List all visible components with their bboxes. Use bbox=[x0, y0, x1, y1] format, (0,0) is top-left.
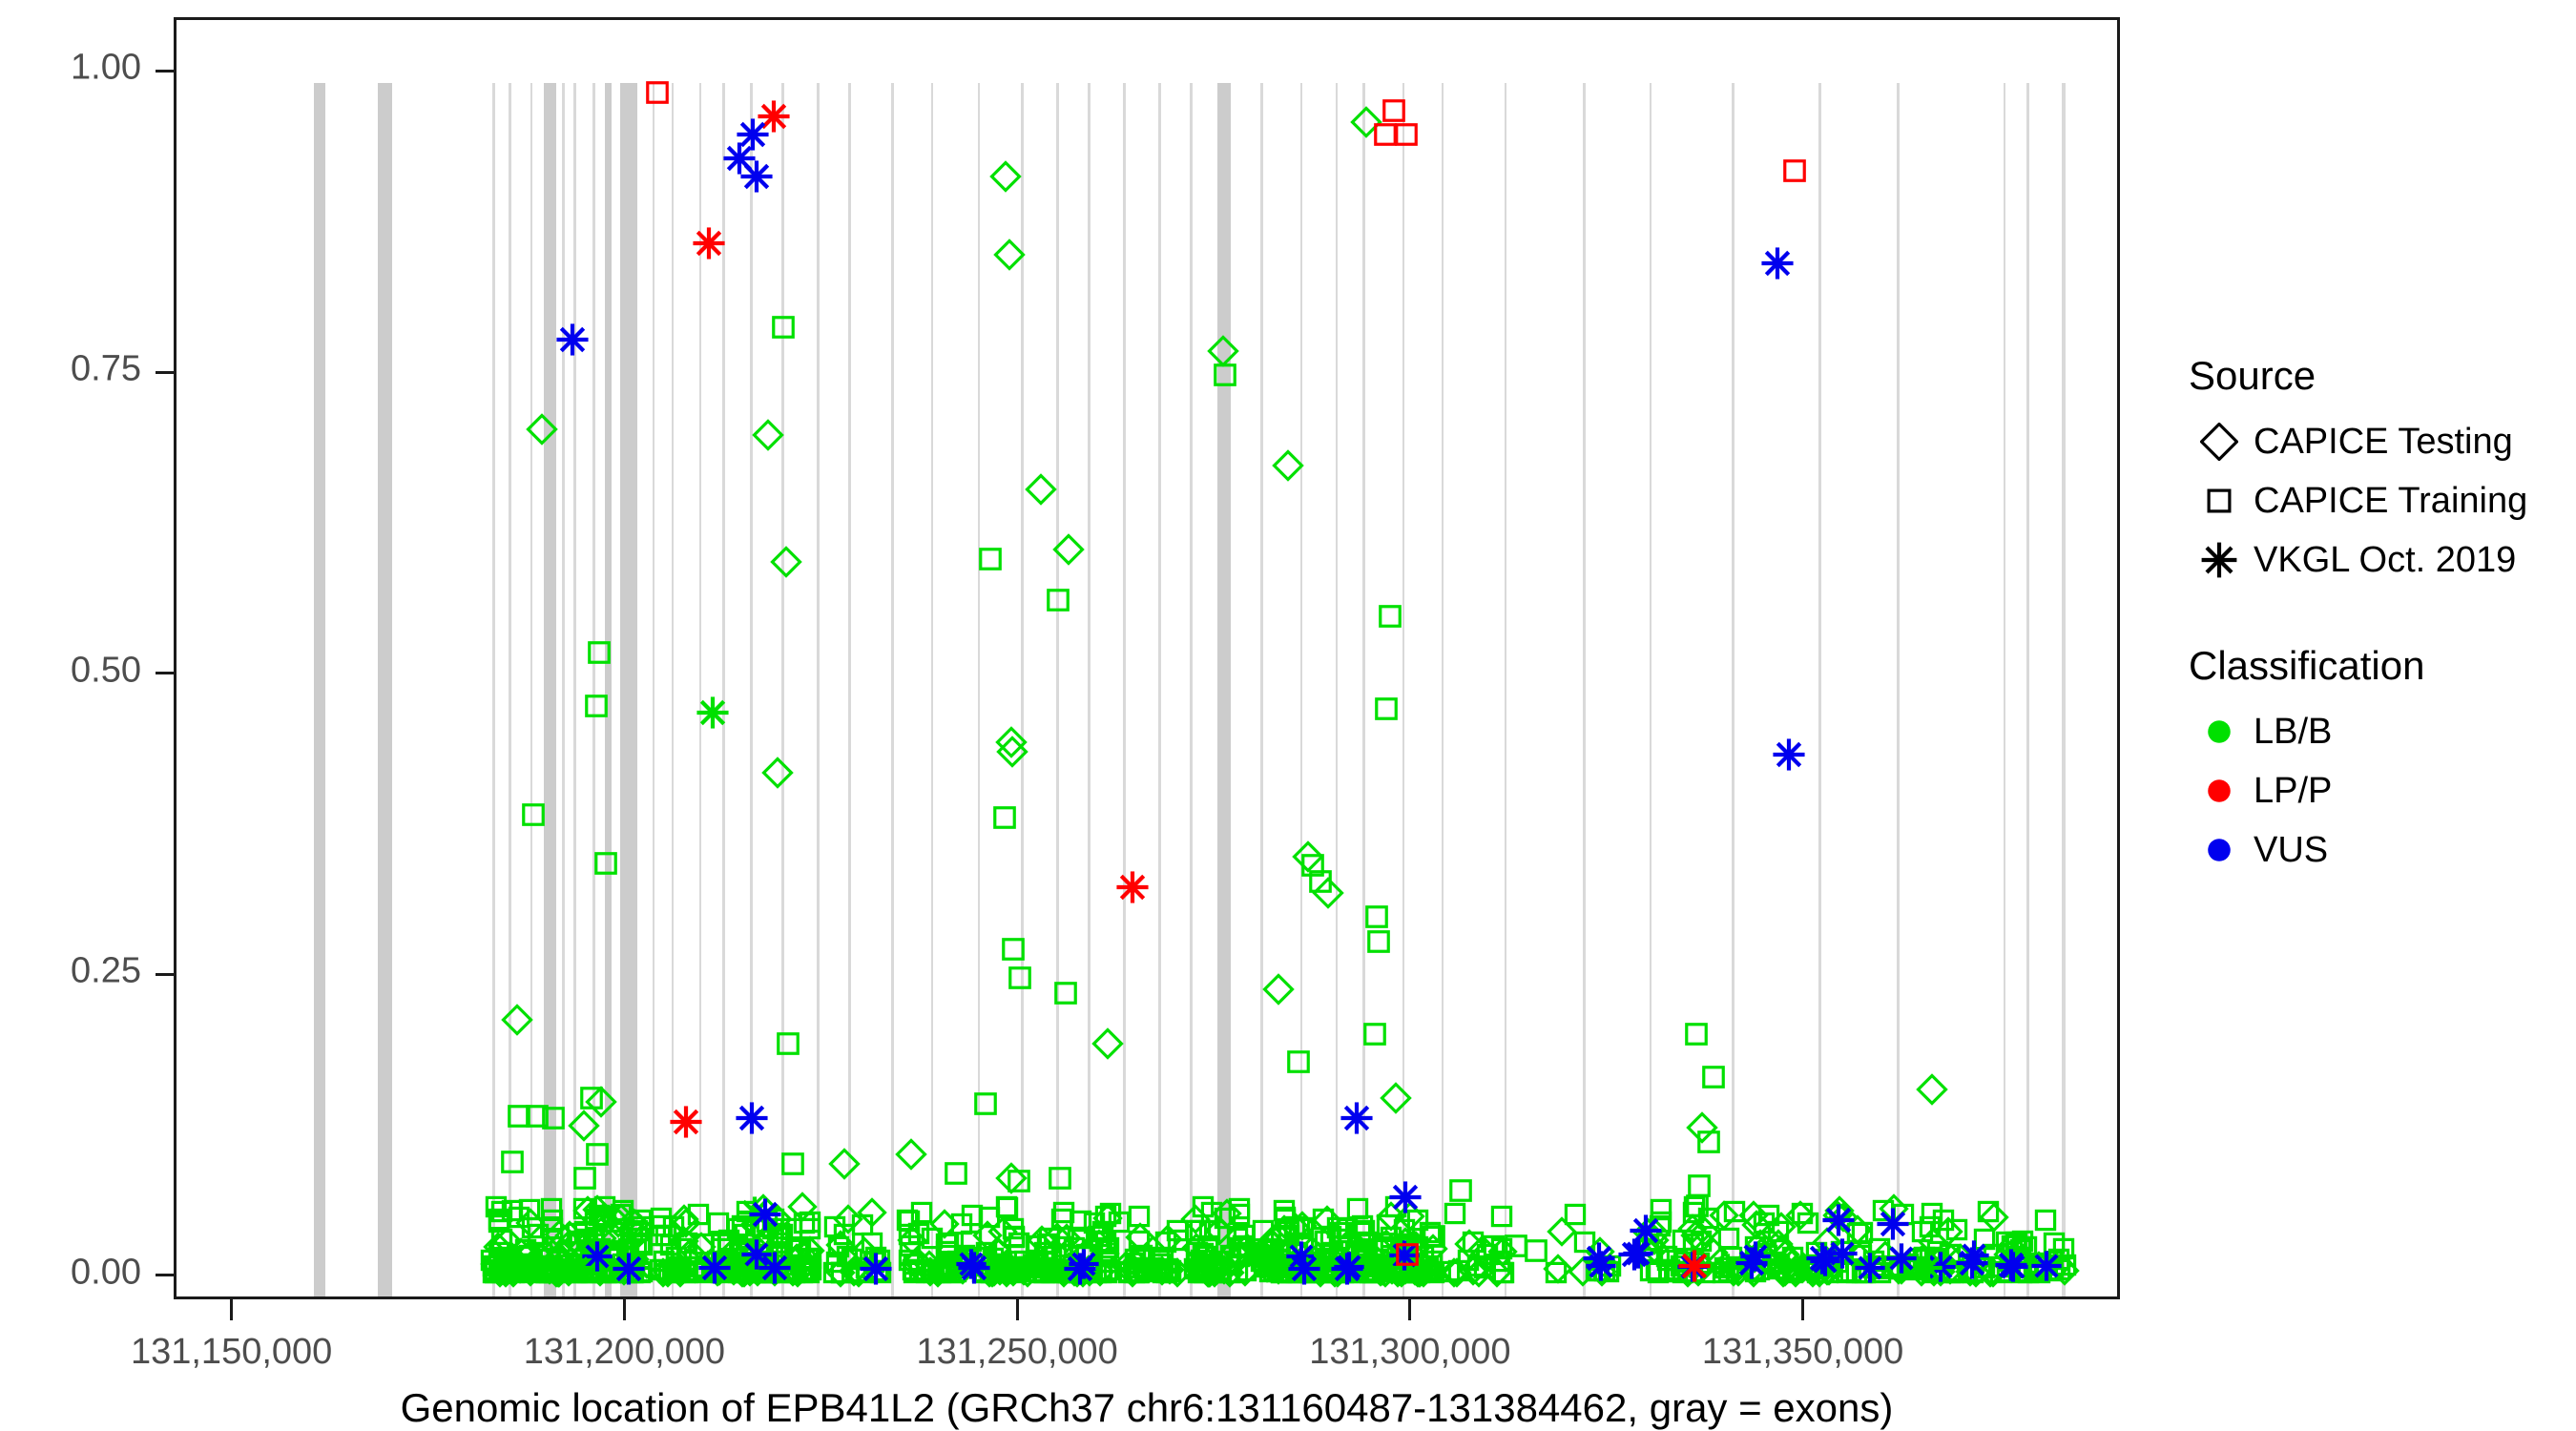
data-point bbox=[1254, 1252, 1282, 1280]
data-point bbox=[771, 1255, 800, 1284]
data-point bbox=[1283, 1047, 1314, 1077]
y-axis-tick bbox=[156, 1274, 177, 1276]
data-point bbox=[743, 1256, 772, 1285]
data-point bbox=[1802, 1238, 1831, 1267]
data-point bbox=[1416, 1218, 1444, 1247]
data-point bbox=[1473, 1240, 1502, 1269]
data-point bbox=[1391, 1255, 1420, 1284]
data-point bbox=[1699, 1238, 1728, 1267]
data-point bbox=[1786, 1201, 1815, 1230]
data-point bbox=[920, 1258, 948, 1287]
exon-band bbox=[817, 83, 819, 1296]
legend-item-source-0[interactable]: CAPICE Testing bbox=[2185, 412, 2566, 471]
data-point bbox=[1050, 978, 1081, 1008]
exon-band bbox=[1123, 83, 1125, 1296]
data-point bbox=[992, 1258, 1021, 1287]
data-point bbox=[899, 1255, 927, 1284]
data-point bbox=[958, 1201, 987, 1230]
data-point bbox=[1640, 1226, 1669, 1255]
data-point bbox=[502, 1005, 532, 1035]
data-point bbox=[1678, 1257, 1707, 1286]
data-point bbox=[1440, 1258, 1468, 1287]
data-point bbox=[724, 1258, 753, 1287]
legend-item-label: LP/P bbox=[2254, 771, 2332, 812]
chart-root: CAPICE score (pathogenicity estimate) Ge… bbox=[0, 0, 2576, 1431]
data-point bbox=[1265, 1223, 1294, 1252]
data-point bbox=[748, 1197, 782, 1232]
data-point bbox=[1419, 1221, 1449, 1252]
data-point bbox=[896, 1139, 926, 1170]
data-point bbox=[1735, 1246, 1769, 1280]
data-point bbox=[1270, 1215, 1298, 1244]
data-point bbox=[1867, 1254, 1896, 1282]
data-point bbox=[1351, 107, 1381, 137]
data-point bbox=[1955, 1246, 1989, 1280]
data-point bbox=[1091, 1228, 1120, 1256]
data-point bbox=[772, 1256, 800, 1285]
data-point bbox=[501, 1248, 530, 1276]
data-point bbox=[981, 1258, 1009, 1287]
data-point bbox=[1909, 1244, 1938, 1273]
data-point bbox=[995, 1254, 1024, 1282]
data-point bbox=[863, 1256, 892, 1285]
data-point bbox=[1364, 1245, 1393, 1274]
legend-title-source: Source bbox=[2189, 353, 2566, 399]
data-point bbox=[1843, 1219, 1872, 1248]
data-point bbox=[1684, 1255, 1713, 1284]
data-point bbox=[765, 1229, 794, 1257]
data-point bbox=[1280, 1213, 1309, 1241]
data-point bbox=[1092, 1258, 1121, 1287]
asterisk-icon bbox=[2185, 530, 2254, 590]
data-point bbox=[1391, 1228, 1420, 1256]
data-point bbox=[588, 1258, 616, 1287]
data-point bbox=[717, 1255, 745, 1284]
data-point bbox=[714, 1228, 742, 1256]
data-point bbox=[1590, 1256, 1619, 1285]
data-point bbox=[782, 1244, 811, 1273]
data-point bbox=[941, 1158, 971, 1189]
legend-item-source-2[interactable]: VKGL Oct. 2019 bbox=[2185, 530, 2566, 590]
data-point bbox=[945, 1249, 974, 1277]
y-axis-tick bbox=[156, 70, 177, 73]
data-point bbox=[715, 1226, 743, 1255]
data-point bbox=[1405, 1258, 1434, 1287]
data-point bbox=[749, 1258, 778, 1287]
data-point bbox=[1765, 1250, 1794, 1278]
data-point bbox=[503, 1253, 533, 1283]
data-point bbox=[513, 1242, 542, 1271]
data-point bbox=[1869, 1196, 1898, 1225]
x-axis-tick bbox=[230, 1299, 233, 1320]
data-point bbox=[1825, 1196, 1854, 1225]
x-axis-tick bbox=[1408, 1299, 1411, 1320]
data-point bbox=[1282, 1258, 1311, 1287]
data-point bbox=[737, 1195, 772, 1230]
data-point bbox=[1263, 1257, 1292, 1286]
data-point bbox=[1029, 1258, 1058, 1287]
data-point bbox=[1091, 1202, 1120, 1231]
x-axis-tick-label: 131,300,000 bbox=[1309, 1332, 1510, 1373]
data-point bbox=[1345, 1235, 1374, 1264]
data-point bbox=[1125, 1202, 1153, 1231]
data-point bbox=[730, 1258, 758, 1287]
data-point bbox=[665, 1255, 694, 1283]
data-point bbox=[944, 1247, 972, 1275]
data-point bbox=[1352, 1257, 1381, 1286]
data-point bbox=[576, 1239, 605, 1268]
data-point bbox=[492, 1253, 521, 1281]
data-point bbox=[741, 1255, 770, 1283]
data-point bbox=[1054, 1253, 1083, 1281]
data-point bbox=[790, 1209, 819, 1237]
data-point bbox=[1266, 1239, 1295, 1268]
data-point bbox=[1004, 1166, 1034, 1196]
exon-band bbox=[492, 83, 494, 1296]
data-point bbox=[1082, 1258, 1111, 1287]
data-point bbox=[1741, 1257, 1770, 1286]
data-point bbox=[2031, 1206, 2060, 1234]
exon-band bbox=[781, 83, 783, 1296]
data-point bbox=[833, 1242, 862, 1271]
data-point bbox=[1916, 1213, 1944, 1241]
data-point bbox=[703, 1257, 732, 1286]
legend-item-classification-0[interactable]: LB/B bbox=[2185, 702, 2566, 761]
data-point bbox=[1340, 1101, 1374, 1135]
data-point bbox=[2007, 1258, 2036, 1287]
data-point bbox=[1859, 1254, 1888, 1282]
data-point bbox=[1465, 1258, 1493, 1287]
data-point bbox=[1706, 1248, 1735, 1276]
data-point bbox=[1586, 1237, 1614, 1266]
data-point bbox=[1910, 1243, 1939, 1272]
data-point bbox=[1805, 1241, 1839, 1275]
data-point bbox=[1745, 1255, 1774, 1284]
data-point bbox=[1294, 1256, 1322, 1285]
data-point bbox=[1125, 1227, 1153, 1255]
data-point bbox=[492, 1243, 521, 1272]
data-point bbox=[1189, 1192, 1217, 1221]
legend-item-source-1[interactable]: CAPICE Training bbox=[2185, 471, 2566, 530]
data-point bbox=[1182, 1234, 1211, 1262]
exon-band bbox=[530, 83, 532, 1296]
data-point bbox=[662, 1243, 691, 1272]
data-point bbox=[1866, 1258, 1895, 1287]
data-point bbox=[1078, 1255, 1107, 1284]
exon-band bbox=[978, 83, 980, 1296]
legend-item-label: LB/B bbox=[2254, 712, 2332, 753]
data-point bbox=[1396, 1202, 1424, 1231]
data-point bbox=[1358, 1256, 1386, 1285]
data-point bbox=[1444, 1256, 1473, 1285]
data-point bbox=[1037, 1247, 1066, 1275]
data-point bbox=[1270, 1253, 1298, 1281]
data-point bbox=[771, 547, 801, 577]
data-point bbox=[481, 1258, 509, 1287]
data-point bbox=[1917, 1074, 1947, 1105]
data-point bbox=[1271, 1203, 1299, 1232]
data-point bbox=[977, 1253, 1006, 1281]
data-point bbox=[1908, 1217, 1937, 1246]
plot-area bbox=[177, 20, 2117, 1296]
data-point bbox=[1080, 1209, 1109, 1237]
data-point bbox=[1267, 1258, 1296, 1287]
exon-band bbox=[891, 83, 893, 1296]
data-point bbox=[826, 1258, 855, 1287]
data-point bbox=[1346, 1218, 1375, 1247]
data-point bbox=[1025, 1250, 1053, 1278]
data-point bbox=[1087, 1258, 1115, 1287]
data-point bbox=[1069, 1258, 1097, 1287]
data-point bbox=[1383, 1255, 1412, 1283]
data-point bbox=[895, 1207, 924, 1235]
x-axis-tick-label: 131,150,000 bbox=[131, 1332, 332, 1373]
data-point bbox=[2020, 1256, 2048, 1285]
data-point bbox=[978, 1258, 1007, 1287]
data-point bbox=[765, 1219, 794, 1248]
data-point bbox=[1913, 1253, 1943, 1283]
data-point bbox=[477, 1246, 506, 1275]
data-point bbox=[753, 1258, 781, 1287]
exon-band bbox=[1190, 83, 1192, 1296]
data-point bbox=[1764, 1230, 1793, 1258]
data-point bbox=[2030, 1251, 2059, 1279]
data-point bbox=[1993, 1257, 2022, 1286]
data-point bbox=[1371, 694, 1402, 724]
data-point bbox=[1181, 1205, 1210, 1234]
data-point bbox=[1049, 1198, 1078, 1227]
legend-item-label: VUS bbox=[2254, 830, 2328, 871]
data-point bbox=[1124, 1258, 1153, 1287]
data-point bbox=[741, 1258, 770, 1287]
data-point bbox=[1318, 1258, 1346, 1287]
exon-band bbox=[1402, 83, 1404, 1296]
data-point bbox=[852, 1254, 881, 1282]
data-point bbox=[753, 1208, 781, 1236]
data-point bbox=[742, 1234, 771, 1263]
data-point bbox=[755, 1258, 783, 1287]
data-point bbox=[2025, 1249, 2053, 1277]
data-point bbox=[1284, 1258, 1313, 1287]
exon-band bbox=[378, 83, 392, 1296]
data-point bbox=[1071, 1239, 1100, 1268]
data-point bbox=[1741, 1233, 1770, 1261]
data-point bbox=[1994, 1240, 2023, 1269]
data-point bbox=[1271, 1205, 1299, 1234]
data-point bbox=[1381, 1256, 1410, 1285]
data-point bbox=[1035, 1224, 1064, 1253]
data-point bbox=[780, 1258, 809, 1287]
data-point bbox=[1854, 1252, 1886, 1284]
data-point bbox=[1267, 1258, 1296, 1287]
data-point bbox=[679, 1253, 708, 1281]
data-point bbox=[574, 1250, 603, 1278]
data-point bbox=[1582, 1241, 1616, 1275]
data-point bbox=[741, 1210, 770, 1238]
data-point bbox=[853, 1258, 882, 1287]
data-point bbox=[1846, 1236, 1875, 1265]
data-point bbox=[925, 1257, 954, 1286]
data-point bbox=[1402, 1233, 1431, 1261]
data-point bbox=[1859, 1247, 1888, 1275]
data-point bbox=[1388, 1239, 1421, 1272]
data-point bbox=[1823, 1248, 1852, 1276]
data-point bbox=[993, 1254, 1022, 1282]
data-point bbox=[706, 1248, 735, 1276]
legend-item-classification-2[interactable]: VUS bbox=[2185, 820, 2566, 880]
data-point bbox=[1131, 1255, 1159, 1284]
data-point bbox=[743, 1257, 772, 1286]
data-point bbox=[1346, 1253, 1375, 1281]
legend-item-label: CAPICE Testing bbox=[2254, 422, 2513, 463]
data-point bbox=[934, 1229, 963, 1257]
data-point bbox=[1829, 1203, 1858, 1232]
data-point bbox=[1976, 1258, 2005, 1287]
data-point bbox=[788, 1240, 817, 1269]
data-point bbox=[754, 1257, 782, 1286]
data-point bbox=[1148, 1256, 1176, 1285]
data-point bbox=[1842, 1258, 1871, 1287]
data-point bbox=[1325, 1225, 1354, 1254]
data-point bbox=[1939, 1258, 1967, 1287]
data-point bbox=[1771, 1257, 1799, 1286]
data-point bbox=[1582, 1256, 1610, 1285]
data-point bbox=[1037, 1258, 1066, 1287]
circle-icon bbox=[2185, 702, 2254, 761]
data-point bbox=[500, 1258, 529, 1287]
data-point bbox=[990, 1258, 1019, 1287]
data-point bbox=[1713, 1253, 1743, 1283]
data-point bbox=[1485, 1247, 1514, 1275]
data-point bbox=[1644, 1258, 1672, 1287]
data-point bbox=[788, 1258, 817, 1287]
data-point bbox=[1876, 1207, 1910, 1241]
circle-icon bbox=[2185, 761, 2254, 820]
data-point bbox=[895, 1246, 924, 1275]
data-point bbox=[1386, 1245, 1415, 1274]
data-point bbox=[2045, 1250, 2073, 1278]
legend-item-classification-1[interactable]: LP/P bbox=[2185, 761, 2566, 820]
data-point bbox=[642, 77, 673, 108]
data-point bbox=[763, 1205, 792, 1234]
data-point bbox=[671, 1256, 699, 1285]
data-point bbox=[498, 1196, 527, 1225]
data-point bbox=[1739, 1240, 1772, 1273]
exon-band bbox=[653, 83, 654, 1296]
data-point bbox=[555, 1221, 584, 1250]
data-point bbox=[1823, 1201, 1852, 1230]
data-point bbox=[1260, 1253, 1289, 1281]
data-point bbox=[1918, 1257, 1946, 1286]
data-point bbox=[1956, 1257, 1984, 1286]
data-point bbox=[1778, 1243, 1807, 1272]
data-point bbox=[1921, 1255, 1949, 1283]
data-point bbox=[1273, 1236, 1301, 1265]
data-point bbox=[1030, 1258, 1059, 1287]
data-point bbox=[1920, 1257, 1948, 1286]
data-point bbox=[1459, 1228, 1487, 1256]
data-point bbox=[1684, 1257, 1713, 1286]
data-point bbox=[492, 1257, 521, 1286]
data-point bbox=[1028, 1226, 1056, 1255]
data-point bbox=[987, 1258, 1015, 1287]
data-point bbox=[1372, 1230, 1401, 1258]
data-point bbox=[1682, 1191, 1713, 1221]
data-point bbox=[705, 1256, 734, 1285]
y-axis-tick-label: 0.75 bbox=[0, 349, 141, 390]
data-point bbox=[1755, 1201, 1783, 1230]
data-point bbox=[1998, 1232, 2026, 1260]
data-point bbox=[1009, 1256, 1038, 1285]
data-point bbox=[661, 1258, 690, 1287]
data-point bbox=[481, 1258, 509, 1287]
data-point bbox=[1126, 1242, 1154, 1271]
data-point bbox=[1851, 1258, 1880, 1287]
data-point bbox=[1997, 1233, 2025, 1261]
data-point bbox=[567, 1243, 595, 1272]
data-point bbox=[1633, 1218, 1662, 1247]
data-point bbox=[1585, 1256, 1613, 1285]
data-point bbox=[774, 1257, 802, 1286]
data-point bbox=[1182, 1248, 1211, 1276]
data-point bbox=[1848, 1218, 1877, 1247]
data-point bbox=[1138, 1254, 1167, 1282]
data-point bbox=[1813, 1228, 1841, 1256]
data-point bbox=[689, 1230, 717, 1258]
data-point bbox=[554, 1257, 583, 1286]
data-point bbox=[1588, 1257, 1616, 1286]
data-point bbox=[1347, 1238, 1376, 1267]
data-point bbox=[749, 1194, 778, 1223]
data-point bbox=[1013, 1258, 1042, 1287]
data-point bbox=[1401, 1256, 1429, 1285]
data-point bbox=[957, 1227, 986, 1255]
data-point bbox=[992, 1250, 1021, 1278]
data-point bbox=[1679, 1230, 1708, 1258]
data-point bbox=[893, 1206, 922, 1234]
data-point bbox=[1880, 1252, 1908, 1280]
data-point bbox=[1742, 1211, 1771, 1239]
data-point bbox=[830, 1220, 859, 1249]
data-point bbox=[1779, 156, 1810, 186]
data-point bbox=[1548, 1217, 1576, 1246]
data-point bbox=[1753, 1241, 1781, 1270]
data-point bbox=[1929, 1206, 1958, 1234]
data-point bbox=[1848, 1258, 1877, 1287]
data-point bbox=[754, 1258, 782, 1287]
exon-band bbox=[562, 83, 565, 1296]
data-point bbox=[1153, 1255, 1182, 1283]
data-point bbox=[993, 1193, 1022, 1222]
data-point bbox=[1373, 1211, 1402, 1239]
data-point bbox=[1483, 1258, 1511, 1287]
data-point bbox=[848, 1211, 877, 1239]
data-point bbox=[1412, 1256, 1441, 1285]
data-point bbox=[930, 1210, 959, 1238]
data-point bbox=[1068, 1248, 1100, 1280]
data-point bbox=[574, 1251, 603, 1279]
data-point bbox=[820, 1258, 848, 1287]
data-point bbox=[1111, 1252, 1140, 1280]
data-point bbox=[513, 1250, 542, 1278]
data-point bbox=[1282, 1239, 1311, 1268]
data-point bbox=[1405, 1252, 1434, 1280]
legend-source-rows: CAPICE TestingCAPICE TrainingVKGL Oct. 2… bbox=[2185, 412, 2566, 590]
data-point bbox=[1270, 1196, 1298, 1225]
data-point bbox=[1813, 1256, 1841, 1285]
x-axis-tick-label: 131,200,000 bbox=[524, 1332, 725, 1373]
data-point bbox=[739, 159, 774, 194]
